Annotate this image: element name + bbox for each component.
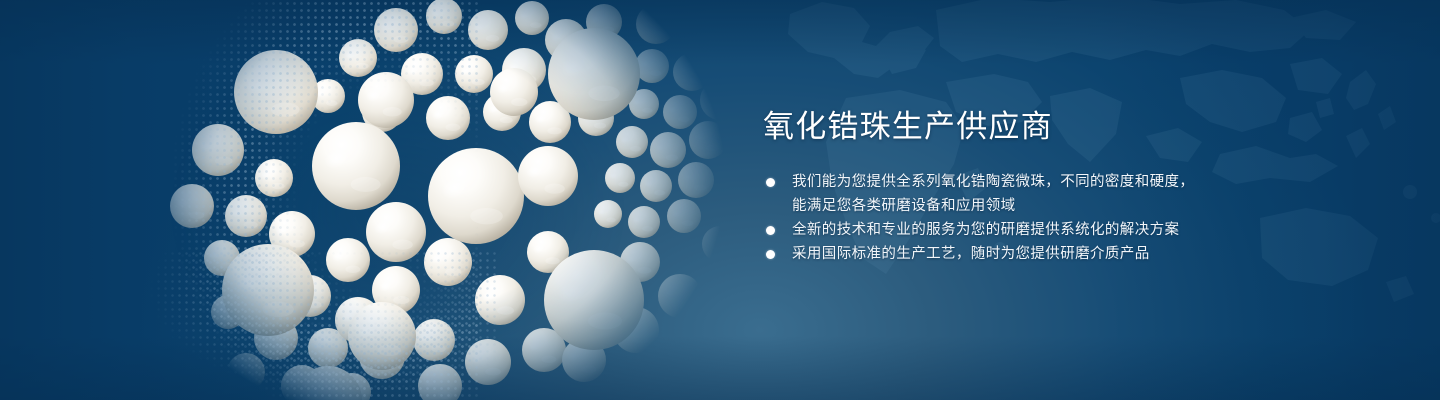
list-item: 我们能为您提供全系列氧化锆陶瓷微珠，不同的密度和硬度， 能满足您各类研磨设备和应… <box>763 170 1363 218</box>
hero-banner: 氧化锆珠生产供应商 我们能为您提供全系列氧化锆陶瓷微珠，不同的密度和硬度， 能满… <box>0 0 1440 400</box>
banner-copy: 氧化锆珠生产供应商 我们能为您提供全系列氧化锆陶瓷微珠，不同的密度和硬度， 能满… <box>763 108 1363 266</box>
bullet-dot-icon <box>766 178 775 187</box>
bullet-dot-icon <box>766 250 775 259</box>
feature-list: 我们能为您提供全系列氧化锆陶瓷微珠，不同的密度和硬度， 能满足您各类研磨设备和应… <box>763 170 1363 266</box>
list-item-line: 能满足您各类研磨设备和应用领域 <box>792 194 1363 218</box>
bullet-dot-icon <box>766 226 775 235</box>
list-item-line: 我们能为您提供全系列氧化锆陶瓷微珠，不同的密度和硬度， <box>792 170 1363 194</box>
list-item: 全新的技术和专业的服务为您的研磨提供系统化的解决方案 <box>763 218 1363 242</box>
zirconia-beads-photo <box>96 0 736 400</box>
list-item-line: 全新的技术和专业的服务为您的研磨提供系统化的解决方案 <box>792 218 1363 242</box>
list-item: 采用国际标准的生产工艺，随时为您提供研磨介质产品 <box>763 242 1363 266</box>
list-item-line: 采用国际标准的生产工艺，随时为您提供研磨介质产品 <box>792 242 1363 266</box>
page-title: 氧化锆珠生产供应商 <box>763 108 1363 146</box>
